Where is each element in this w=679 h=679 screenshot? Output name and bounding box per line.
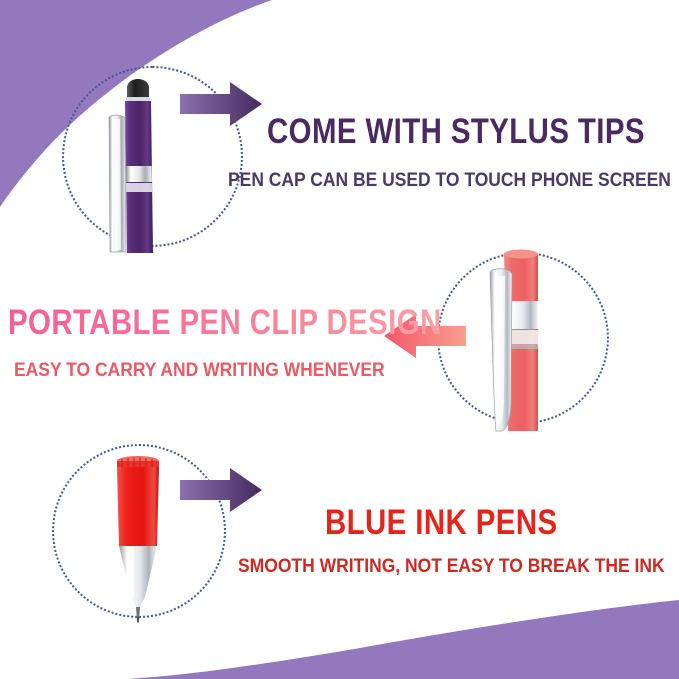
bottom-right-swoosh-shape bbox=[128, 600, 679, 679]
feature-subline-clip: EASY TO CARRY AND WRITING WHENEVER bbox=[14, 360, 385, 382]
feature-headline-stylus: COME WITH STYLUS TIPS bbox=[267, 112, 645, 152]
red-pen-tip-illustration bbox=[103, 449, 173, 624]
purple-stylus-pen-illustration bbox=[95, 70, 175, 255]
infographic-canvas: COME WITH STYLUS TIPS PEN CAP CAN BE USE… bbox=[0, 0, 679, 679]
feature-headline-clip: PORTABLE PEN CLIP DESIGN bbox=[8, 303, 442, 343]
feature-subline-ink: SMOOTH WRITING, NOT EASY TO BREAK THE IN… bbox=[238, 556, 665, 578]
coral-clip-pen-illustration bbox=[478, 245, 553, 435]
feature-subline-stylus: PEN CAP CAN BE USED TO TOUCH PHONE SCREE… bbox=[228, 170, 671, 192]
arrow-right-stylus bbox=[178, 80, 264, 128]
feature-headline-ink: BLUE INK PENS bbox=[325, 503, 558, 543]
arrow-right-ink bbox=[178, 466, 264, 514]
